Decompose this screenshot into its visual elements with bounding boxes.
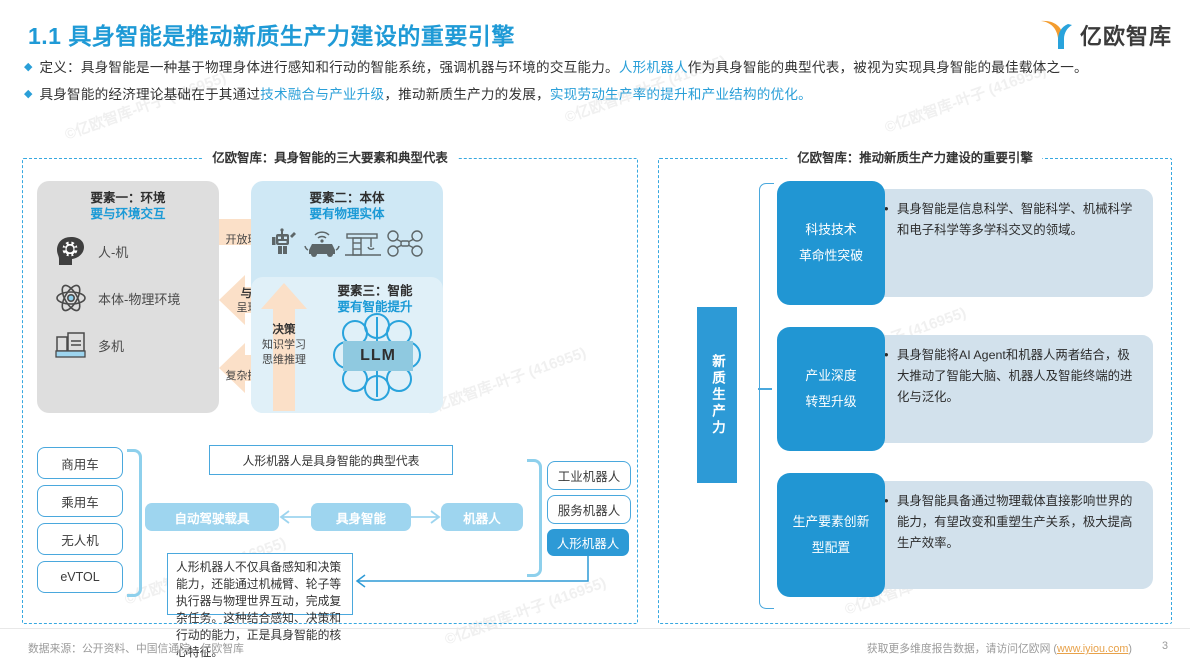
flow-node-robot[interactable]: 机器人	[441, 503, 523, 531]
footer-promo-prefix: 获取更多维度报告数据，请访问亿欧网 (	[867, 643, 1057, 655]
vehicle-item-1[interactable]: 乘用车	[37, 485, 123, 517]
bullet-item: ◆ 具身智能的经济理论基础在于其通过技术融合与产业升级，推动新质生产力的发展，实…	[24, 85, 1174, 105]
callout-top: 人形机器人是具身智能的典型代表	[209, 445, 453, 475]
bullet-text: 定义：具身智能是一种基于物理身体进行感知和行动的智能系统，强调机器与环境的交互能…	[39, 58, 1087, 78]
environment-item-multi-machine: 多机	[51, 327, 219, 363]
flow-arrow-left	[279, 509, 311, 525]
footer-promo-suffix: )	[1128, 643, 1132, 655]
card-head: 生产要素创新 型配置	[777, 473, 885, 597]
iyiou-link[interactable]: www.iyiou.com	[1057, 643, 1128, 655]
head-gear-icon	[51, 233, 91, 269]
brand-logo: 亿欧智库	[1037, 18, 1172, 52]
atom-icon	[51, 280, 91, 316]
environment-heading: 要素一：环境 要与环境交互	[37, 181, 219, 222]
robot-icon	[269, 228, 301, 263]
new-quality-productivity-label: 新质生产力	[697, 307, 737, 483]
card-head-line-1: 生产要素创新	[793, 509, 870, 535]
environment-item-label: 多机	[98, 336, 124, 355]
right-panel-title: 亿欧智库：推动新质生产力建设的重要引擎	[787, 148, 1042, 166]
card-head-line-1: 科技技术	[805, 217, 856, 243]
productivity-card: 生产要素创新 型配置 具身智能具备通过物理载体直接影响世界的能力，有望改变和重塑…	[777, 473, 1153, 597]
brain-icon: LLM	[329, 311, 425, 403]
productivity-card: 科技技术 革命性突破 具身智能是信息科学、智能科学、机械科学和电子科学等多学科交…	[777, 181, 1153, 305]
footer-promo: 获取更多维度报告数据，请访问亿欧网 (www.iyiou.com)	[867, 640, 1132, 656]
flow-node-autonomous-vehicle[interactable]: 自动驾驶载具	[145, 503, 279, 531]
bullet-item: ◆ 定义：具身智能是一种基于物理身体进行感知和行动的智能系统，强调机器与环境的交…	[24, 58, 1174, 78]
robot-item-2[interactable]: 人形机器人	[547, 529, 629, 556]
car-wifi-icon	[303, 228, 341, 263]
environment-item-physical: 本体-物理环境	[51, 280, 219, 316]
card-head-line-2: 型配置	[812, 535, 850, 561]
productivity-card: 产业深度 转型升级 具身智能将AI Agent和机器人两者结合，极大推动了智能大…	[777, 327, 1153, 451]
crane-icon	[343, 228, 383, 263]
flow-arrow-right	[411, 509, 441, 525]
vehicle-item-0[interactable]: 商用车	[37, 447, 123, 479]
footer: 数据来源：公开资料、中国信通院、亿欧智库 获取更多维度报告数据，请访问亿欧网 (…	[0, 628, 1190, 669]
card-head-line-1: 产业深度	[805, 363, 856, 389]
card-head: 产业深度 转型升级	[777, 327, 885, 451]
humanoid-description: 人形机器人不仅具备感知和决策能力，还能通过机械臂、轮子等执行器与物理世界互动，完…	[167, 553, 353, 615]
card-head: 科技技术 革命性突破	[777, 181, 885, 305]
robot-item-1[interactable]: 服务机器人	[547, 495, 631, 524]
environment-item-human-machine: 人-机	[51, 233, 219, 269]
cards-brace	[759, 183, 774, 609]
robot-item-0[interactable]: 工业机器人	[547, 461, 631, 490]
diamond-bullet-icon: ◆	[24, 58, 32, 77]
cards-brace-nub	[758, 388, 772, 390]
environment-item-label: 人-机	[98, 242, 128, 261]
environment-box: 要素一：环境 要与环境交互	[37, 181, 219, 413]
decision-line-2: 思维推理	[257, 353, 311, 368]
card-body: 具身智能具备通过物理载体直接影响世界的能力，有望改变和重塑生产关系，极大提高生产…	[867, 481, 1153, 589]
vehicle-item-3[interactable]: eVTOL	[37, 561, 123, 593]
machine-icon	[51, 327, 91, 363]
drone-icon	[385, 228, 425, 263]
page-title: 1.1 具身智能是推动新质生产力建设的重要引擎	[28, 17, 515, 51]
card-body: 具身智能将AI Agent和机器人两者结合，极大推动了智能大脑、机器人及智能终端…	[867, 335, 1153, 443]
decision-up-arrow: 决策 知识学习 思维推理	[257, 283, 311, 411]
body-icon-row	[259, 229, 435, 263]
body-box: 要素二：本体 要有物理实体	[251, 181, 443, 413]
footer-source: 数据来源：公开资料、中国信通院、亿欧智库	[28, 640, 244, 656]
flow-node-embodied-ai[interactable]: 具身智能	[311, 503, 411, 531]
right-panel: 亿欧智库：推动新质生产力建设的重要引擎 新质生产力 科技技术 革命性突破 具身智…	[658, 158, 1172, 624]
slide-page: ©亿欧智库-叶子 (416955) ©亿欧智库-叶子 (416955) ©亿欧智…	[0, 0, 1190, 669]
card-head-line-2: 革命性突破	[799, 243, 863, 269]
llm-label: LLM	[343, 341, 413, 371]
body-heading: 要素二：本体 要有物理实体	[251, 181, 443, 222]
decision-title: 决策	[257, 323, 311, 338]
bullet-text: 具身智能的经济理论基础在于其通过技术融合与产业升级，推动新质生产力的发展，实现劳…	[39, 85, 811, 105]
humanoid-connector	[347, 555, 589, 589]
environment-item-label: 本体-物理环境	[98, 289, 180, 308]
page-number: 3	[1162, 640, 1168, 652]
card-head-line-2: 转型升级	[805, 389, 856, 415]
iyiou-logo-icon	[1037, 18, 1075, 52]
left-panel: 亿欧智库：具身智能的三大要素和典型代表 要素一：环境 要与环境交互	[22, 158, 638, 624]
diamond-bullet-icon: ◆	[24, 85, 32, 104]
vehicle-item-2[interactable]: 无人机	[37, 523, 123, 555]
bullet-list: ◆ 定义：具身智能是一种基于物理身体进行感知和行动的智能系统，强调机器与环境的交…	[24, 58, 1174, 112]
left-panel-title: 亿欧智库：具身智能的三大要素和典型代表	[202, 148, 457, 166]
decision-line-1: 知识学习	[257, 338, 311, 353]
vehicle-brace	[127, 449, 142, 597]
intelligence-box: 要素三：智能 要有智能提升 决策 知识学习 思维推理	[251, 277, 443, 413]
card-body: 具身智能是信息科学、智能科学、机械科学和电子科学等多学科交叉的领域。	[867, 189, 1153, 297]
logo-text: 亿欧智库	[1080, 19, 1172, 51]
